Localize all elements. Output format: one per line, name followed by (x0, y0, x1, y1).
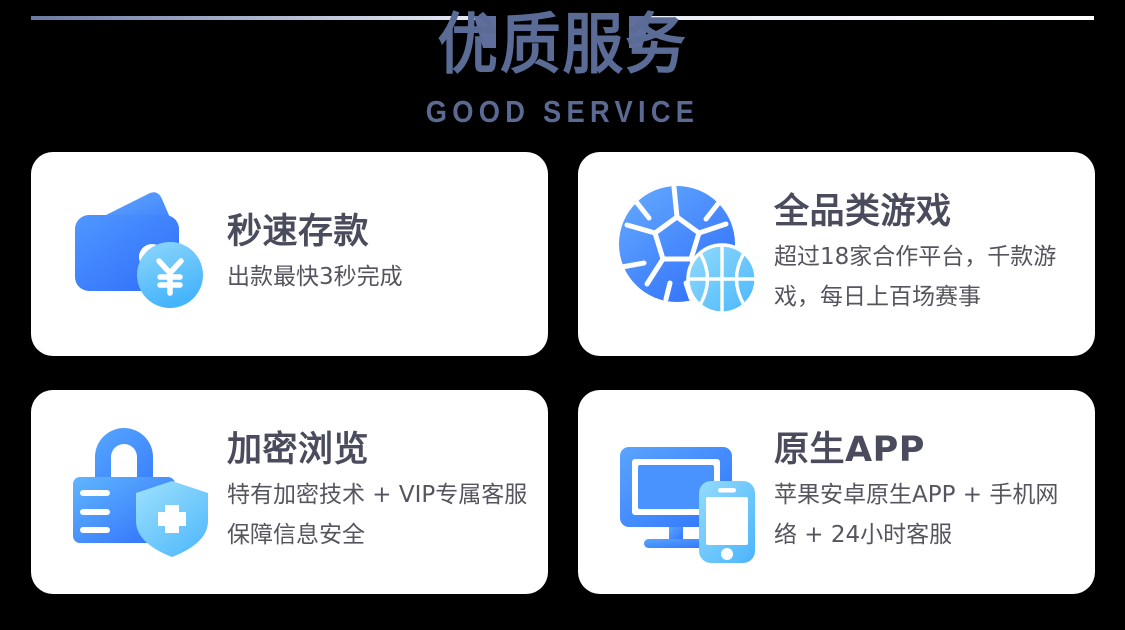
page-header: 优质服务 GOOD SERVICE (0, 0, 1125, 140)
card-body: 原生APP 苹果安卓原生APP + 手机网络 + 24小时客服 (774, 429, 1095, 555)
soccer-basketball-icon (614, 179, 764, 329)
page-subtitle: GOOD SERVICE (68, 95, 1058, 129)
feature-card-deposit[interactable]: 秒速存款 出款最快3秒完成 (31, 152, 548, 356)
card-title: 全品类游戏 (774, 191, 1079, 233)
card-description: 苹果安卓原生APP + 手机网络 + 24小时客服 (774, 475, 1079, 555)
card-title: 原生APP (774, 429, 1079, 471)
card-description: 超过18家合作平台，千款游戏，每日上百场赛事 (774, 237, 1079, 317)
wallet-yen-icon (67, 179, 217, 329)
feature-card-grid: 秒速存款 出款最快3秒完成 (31, 152, 1095, 594)
card-body: 秒速存款 出款最快3秒完成 (227, 211, 419, 297)
card-description: 出款最快3秒完成 (227, 257, 403, 297)
page-title: 优质服务 (45, 8, 1080, 82)
card-body: 加密浏览 特有加密技术 + VIP专属客服保障信息安全 (227, 429, 548, 555)
feature-card-games[interactable]: 全品类游戏 超过18家合作平台，千款游戏，每日上百场赛事 (578, 152, 1095, 356)
card-body: 全品类游戏 超过18家合作平台，千款游戏，每日上百场赛事 (774, 191, 1095, 317)
card-description: 特有加密技术 + VIP专属客服保障信息安全 (227, 475, 532, 555)
lock-shield-icon (67, 417, 217, 567)
feature-card-encryption[interactable]: 加密浏览 特有加密技术 + VIP专属客服保障信息安全 (31, 390, 548, 594)
monitor-phone-icon (614, 417, 764, 567)
card-title: 加密浏览 (227, 429, 532, 471)
card-title: 秒速存款 (227, 211, 403, 253)
feature-card-native-app[interactable]: 原生APP 苹果安卓原生APP + 手机网络 + 24小时客服 (578, 390, 1095, 594)
